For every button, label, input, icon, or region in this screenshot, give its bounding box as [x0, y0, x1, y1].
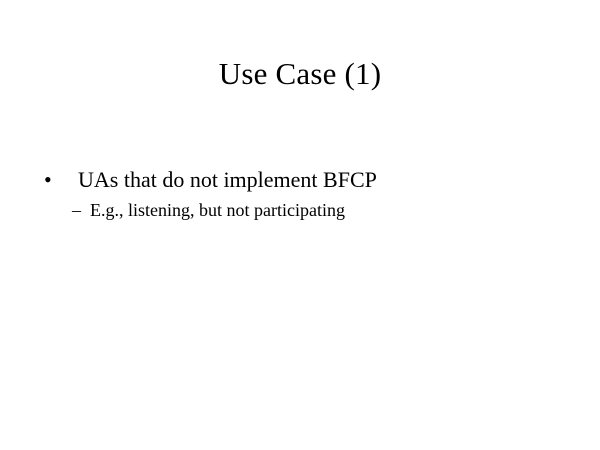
- slide-canvas: Use Case (1) • UAs that do not implement…: [0, 0, 600, 450]
- list-item: – E.g., listening, but not participating: [0, 198, 600, 222]
- slide-body-content: • UAs that do not implement BFCP – E.g.,…: [0, 166, 600, 222]
- bullet-dash-icon: –: [72, 198, 81, 222]
- list-item-label: UAs that do not implement BFCP: [78, 167, 377, 192]
- list-item-label: E.g., listening, but not participating: [90, 200, 345, 220]
- list-item: • UAs that do not implement BFCP: [0, 166, 600, 194]
- page-title: Use Case (1): [0, 55, 600, 93]
- bullet-dot-icon: •: [44, 166, 52, 194]
